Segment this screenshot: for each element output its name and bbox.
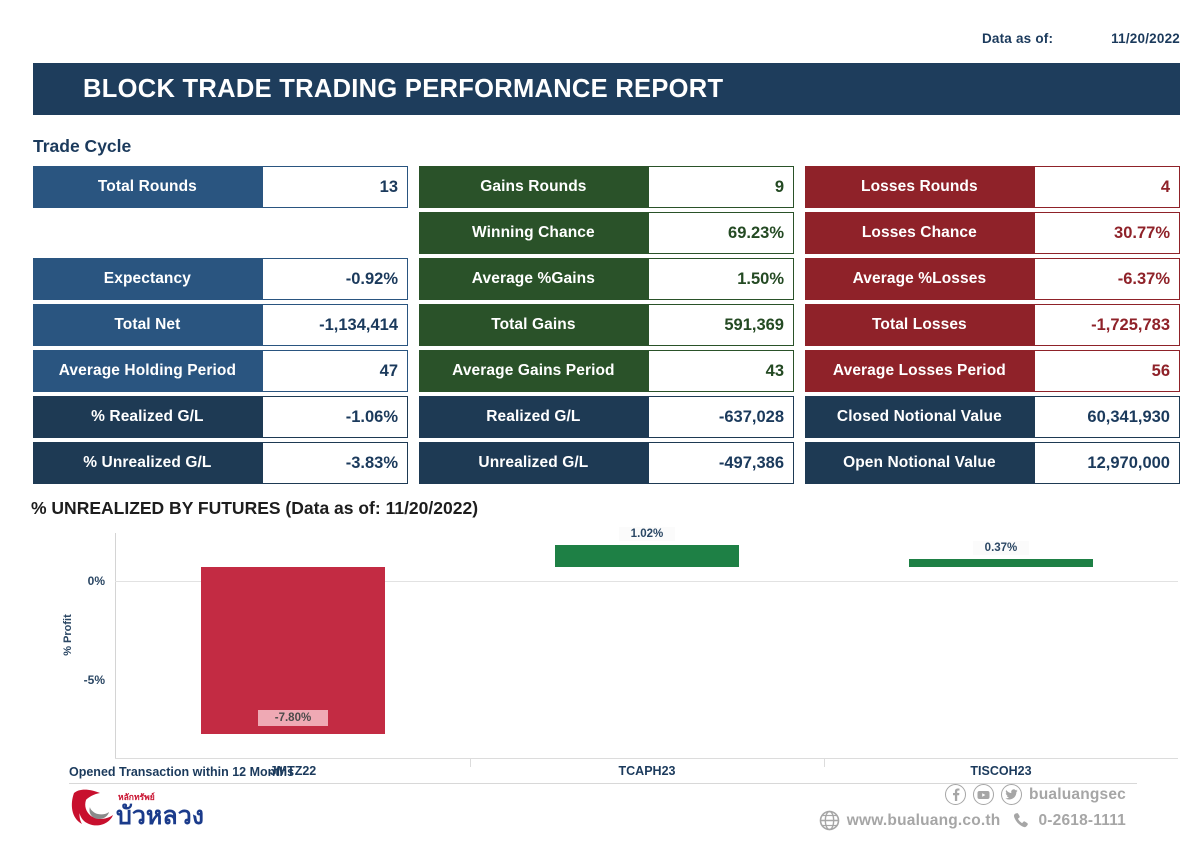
metric-cell: Gains Rounds9	[419, 166, 794, 208]
chart-x-tick-label: TCAPH23	[470, 764, 824, 778]
chart-bar[interactable]	[909, 559, 1093, 567]
metric-label: Realized G/L	[419, 396, 648, 438]
page-title: BLOCK TRADE TRADING PERFORMANCE REPORT	[33, 75, 723, 104]
metric-label: % Realized G/L	[33, 396, 262, 438]
chart-x-tick-label: TISCOH23	[824, 764, 1178, 778]
chart-bar[interactable]	[201, 567, 385, 734]
metric-label: Losses Rounds	[805, 166, 1034, 208]
metric-cell: % Realized G/L-1.06%	[33, 396, 408, 438]
metric-label: % Unrealized G/L	[33, 442, 262, 484]
phone-icon	[1011, 811, 1031, 831]
svg-text:หลักทรัพย์: หลักทรัพย์	[118, 792, 155, 802]
metric-cell: Total Rounds13	[33, 166, 408, 208]
chart-y-axis-label: % Profit	[62, 614, 74, 656]
metric-cell: Realized G/L-637,028	[419, 396, 794, 438]
chart-bar-label: 1.02%	[619, 527, 675, 541]
chart-x-axis-line	[115, 758, 1178, 759]
metric-label: Unrealized G/L	[419, 442, 648, 484]
metric-value: 1.50%	[648, 258, 794, 300]
metric-label: Open Notional Value	[805, 442, 1034, 484]
metric-cell: Winning Chance69.23%	[419, 212, 794, 254]
metric-label: Average Holding Period	[33, 350, 262, 392]
footer-contact: bualuangsec www.bualuang.co.th 0-2618-11…	[819, 784, 1126, 831]
metric-cell: Unrealized G/L-497,386	[419, 442, 794, 484]
metric-value: 13	[262, 166, 408, 208]
metric-cell: Closed Notional Value60,341,930	[805, 396, 1180, 438]
metric-label: Total Gains	[419, 304, 648, 346]
metric-label: Losses Chance	[805, 212, 1034, 254]
metric-cell: Open Notional Value12,970,000	[805, 442, 1180, 484]
metric-value: 60,341,930	[1034, 396, 1180, 438]
metric-value: 4	[1034, 166, 1180, 208]
metric-value: -0.92%	[262, 258, 408, 300]
metric-value: -6.37%	[1034, 258, 1180, 300]
metric-label: Total Net	[33, 304, 262, 346]
metric-value: 12,970,000	[1034, 442, 1180, 484]
web-phone-row: www.bualuang.co.th 0-2618-1111	[819, 810, 1126, 831]
chart-footnote: Opened Transaction within 12 Months	[69, 765, 294, 779]
metric-value: 9	[648, 166, 794, 208]
metric-cell: Total Losses-1,725,783	[805, 304, 1180, 346]
svg-text:บัวหลวง: บัวหลวง	[116, 802, 203, 830]
metric-cell: Average %Losses-6.37%	[805, 258, 1180, 300]
metric-value: -1,134,414	[262, 304, 408, 346]
chart-bar-group: -7.80%	[201, 533, 385, 758]
metric-cell-empty	[33, 212, 408, 254]
metric-cell: Average Losses Period56	[805, 350, 1180, 392]
chart-bar-group: 0.37%	[909, 533, 1093, 758]
metric-value: 69.23%	[648, 212, 794, 254]
metric-value: 591,369	[648, 304, 794, 346]
metric-cell: Average Gains Period43	[419, 350, 794, 392]
chart-plot-area: -7.80%1.02%0.37%	[116, 533, 1178, 758]
metric-label: Average Losses Period	[805, 350, 1034, 392]
chart-x-tick-mark	[470, 758, 471, 767]
metric-label: Closed Notional Value	[805, 396, 1034, 438]
chart-y-tick-1: -5%	[67, 673, 105, 687]
metric-label: Average %Losses	[805, 258, 1034, 300]
metric-cell: Losses Rounds4	[805, 166, 1180, 208]
report-title-banner: BLOCK TRADE TRADING PERFORMANCE REPORT	[33, 63, 1180, 115]
metric-label: Total Losses	[805, 304, 1034, 346]
section-title-trade-cycle: Trade Cycle	[33, 136, 131, 157]
chart-title: % UNREALIZED BY FUTURES (Data as of: 11/…	[31, 498, 478, 519]
bualuang-securities-logo: หลักทรัพย์ บัวหลวง	[68, 787, 203, 833]
metric-label: Total Rounds	[33, 166, 262, 208]
chart-bar[interactable]	[555, 545, 739, 567]
metric-value: -1,725,783	[1034, 304, 1180, 346]
globe-icon	[819, 810, 840, 831]
metric-label: Winning Chance	[419, 212, 648, 254]
metric-label: Average Gains Period	[419, 350, 648, 392]
metric-value: -637,028	[648, 396, 794, 438]
chart-y-tick-0: 0%	[67, 574, 105, 588]
report-page: Data as of: 11/20/2022 BLOCK TRADE TRADI…	[0, 0, 1198, 850]
unrealized-by-futures-chart: % Profit 0% -5% -7.80%1.02%0.37% JMTZ22T…	[33, 533, 1180, 765]
social-row: bualuangsec	[945, 784, 1126, 805]
metric-cell: Average Holding Period47	[33, 350, 408, 392]
metric-cell: Average %Gains1.50%	[419, 258, 794, 300]
metric-value: 43	[648, 350, 794, 392]
metric-value: -1.06%	[262, 396, 408, 438]
metric-cell: Total Gains591,369	[419, 304, 794, 346]
social-handle: bualuangsec	[1029, 786, 1126, 804]
metric-value: 47	[262, 350, 408, 392]
metric-cell: % Unrealized G/L-3.83%	[33, 442, 408, 484]
metric-cell: Losses Chance30.77%	[805, 212, 1180, 254]
data-as-of: Data as of: 11/20/2022	[982, 31, 1180, 46]
phone-number: 0-2618-1111	[1038, 812, 1126, 830]
metrics-grid: Total Rounds13Gains Rounds9Losses Rounds…	[33, 166, 1180, 484]
facebook-icon[interactable]	[945, 784, 966, 805]
website-text[interactable]: www.bualuang.co.th	[847, 812, 1001, 830]
youtube-icon[interactable]	[973, 784, 994, 805]
metric-label: Gains Rounds	[419, 166, 648, 208]
metric-value: -3.83%	[262, 442, 408, 484]
metric-value: 56	[1034, 350, 1180, 392]
metric-label: Average %Gains	[419, 258, 648, 300]
chart-x-tick-mark	[824, 758, 825, 767]
chart-bar-group: 1.02%	[555, 533, 739, 758]
metric-cell: Total Net-1,134,414	[33, 304, 408, 346]
data-as-of-label: Data as of:	[982, 31, 1053, 46]
twitter-icon[interactable]	[1001, 784, 1022, 805]
data-as-of-value: 11/20/2022	[1111, 31, 1180, 46]
chart-bar-label: -7.80%	[258, 710, 328, 726]
metric-value: -497,386	[648, 442, 794, 484]
metric-value: 30.77%	[1034, 212, 1180, 254]
metric-label: Expectancy	[33, 258, 262, 300]
metric-cell: Expectancy-0.92%	[33, 258, 408, 300]
chart-bar-label: 0.37%	[973, 541, 1029, 555]
